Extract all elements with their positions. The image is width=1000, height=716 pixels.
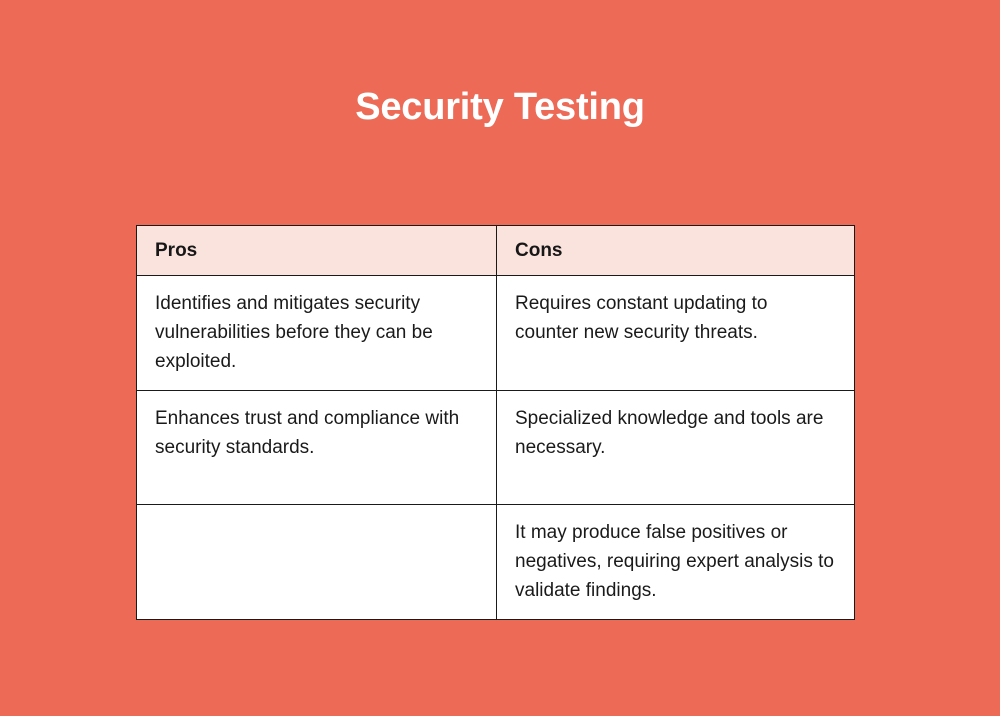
cell-cons-1: Requires constant updating to counter ne… bbox=[497, 276, 855, 391]
table-row: Enhances trust and compliance with secur… bbox=[137, 391, 855, 505]
table-header-row: Pros Cons bbox=[137, 226, 855, 276]
table-body: Identifies and mitigates security vulner… bbox=[137, 276, 855, 620]
cell-cons-2: Specialized knowledge and tools are nece… bbox=[497, 391, 855, 505]
column-header-pros: Pros bbox=[137, 226, 497, 276]
cell-cons-3: It may produce false positives or negati… bbox=[497, 505, 855, 620]
table-row: It may produce false positives or negati… bbox=[137, 505, 855, 620]
pros-cons-table: Pros Cons Identifies and mitigates secur… bbox=[136, 225, 855, 620]
column-header-cons: Cons bbox=[497, 226, 855, 276]
table-header: Pros Cons bbox=[137, 226, 855, 276]
slide-canvas: Security Testing Pros Cons Identifies an… bbox=[0, 0, 1000, 716]
cell-pros-3 bbox=[137, 505, 497, 620]
table-row: Identifies and mitigates security vulner… bbox=[137, 276, 855, 391]
cell-pros-1: Identifies and mitigates security vulner… bbox=[137, 276, 497, 391]
page-title: Security Testing bbox=[0, 84, 1000, 130]
cell-pros-2: Enhances trust and compliance with secur… bbox=[137, 391, 497, 505]
